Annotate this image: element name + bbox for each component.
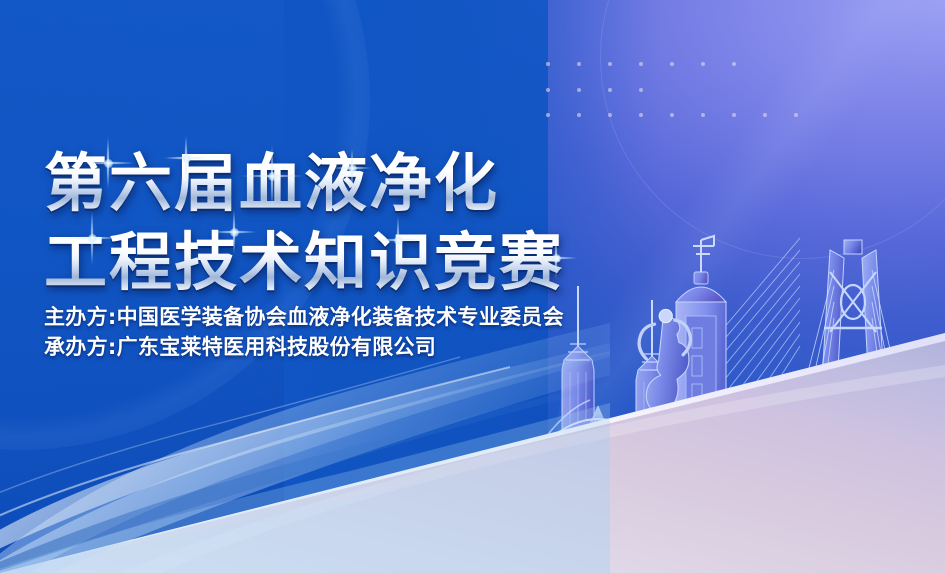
- cityscape-illustration: [500, 210, 945, 573]
- grid-dot: [608, 62, 612, 66]
- grid-dot: [577, 113, 581, 117]
- grid-dot: [546, 62, 550, 66]
- grid-dot: [639, 88, 643, 92]
- banner-title-line-1: 第六届血液净化: [44, 146, 564, 221]
- grid-dot: [763, 113, 767, 117]
- grid-dot: [639, 62, 643, 66]
- grid-dot: [732, 113, 736, 117]
- co-organizer-line: 承办方:广东宝莱特医用科技股份有限公司: [44, 332, 564, 362]
- grid-dot: [577, 62, 581, 66]
- grid-dot: [670, 113, 674, 117]
- grid-dot: [546, 88, 550, 92]
- grid-dot: [577, 88, 581, 92]
- grid-dot: [608, 88, 612, 92]
- banner-subtitles: 主办方:中国医学装备协会血液净化装备技术专业委员会 承办方:广东宝莱特医用科技股…: [44, 302, 564, 362]
- banner-title-line-2: 工程技术知识竞赛: [44, 225, 564, 300]
- grid-dot: [546, 113, 550, 117]
- grid-dot: [639, 113, 643, 117]
- grid-dot: [670, 62, 674, 66]
- banner-title: 第六届血液净化 工程技术知识竞赛: [44, 146, 564, 300]
- grid-dot: [732, 62, 736, 66]
- organizer-line: 主办方:中国医学装备协会血液净化装备技术专业委员会: [44, 302, 564, 332]
- grid-dot: [608, 113, 612, 117]
- grid-dot: [701, 62, 705, 66]
- grid-dot: [701, 113, 705, 117]
- grid-dot: [794, 113, 798, 117]
- event-banner: 第六届血液净化 工程技术知识竞赛 主办方:中国医学装备协会血液净化装备技术专业委…: [0, 0, 945, 573]
